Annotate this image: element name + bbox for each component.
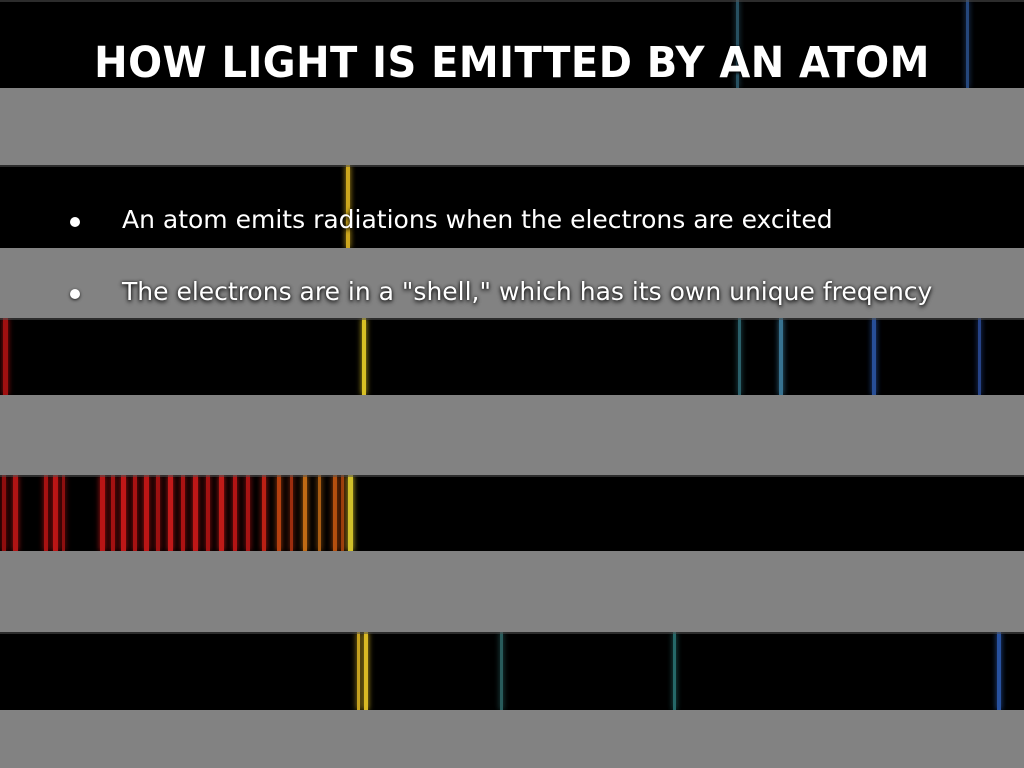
emission-line: [156, 475, 160, 551]
bullet-dot-icon: [70, 289, 80, 299]
bullet-item-1: An atom emits radiations when the electr…: [70, 205, 833, 234]
emission-line: [206, 475, 210, 551]
emission-line: [168, 475, 173, 551]
bullet-dot-icon: [70, 217, 80, 227]
emission-line: [303, 475, 307, 551]
emission-line: [997, 632, 1001, 710]
emission-line: [262, 475, 266, 551]
emission-line: [44, 475, 48, 551]
emission-line: [978, 318, 981, 395]
emission-line: [100, 475, 105, 551]
emission-line: [219, 475, 224, 551]
emission-line: [62, 475, 65, 551]
emission-line: [121, 475, 126, 551]
spectrum-strip-neon: [0, 475, 1024, 551]
emission-line: [318, 475, 321, 551]
emission-line: [779, 318, 783, 395]
spectrum-strip-helium: [0, 318, 1024, 395]
emission-line: [738, 318, 741, 395]
slide-canvas: ercuryeoneliumodiumydrogen HOW LIGHT IS …: [0, 0, 1024, 768]
spectrum-strip-mercury: [0, 632, 1024, 710]
bullet-text-2: The electrons are in a "shell," which ha…: [122, 277, 932, 306]
emission-line: [13, 475, 18, 551]
emission-line: [277, 475, 281, 551]
emission-line: [357, 632, 360, 710]
emission-line: [193, 475, 198, 551]
emission-line: [872, 318, 876, 395]
spectrum-gray-band: [0, 395, 1024, 475]
emission-line: [133, 475, 137, 551]
emission-line: [362, 318, 366, 395]
bullet-item-2: The electrons are in a "shell," which ha…: [70, 277, 932, 306]
emission-line: [348, 475, 353, 551]
emission-line: [341, 475, 344, 551]
emission-line: [233, 475, 237, 551]
emission-line: [3, 318, 8, 395]
spectrum-gray-band: [0, 710, 1024, 768]
emission-line: [111, 475, 115, 551]
emission-line: [144, 475, 149, 551]
emission-line: [333, 475, 337, 551]
emission-line: [246, 475, 250, 551]
spectrum-gray-band: [0, 551, 1024, 632]
emission-line: [53, 475, 58, 551]
emission-line: [500, 632, 503, 710]
emission-line: [181, 475, 185, 551]
spectrum-gray-band: [0, 88, 1024, 165]
bullet-text-1: An atom emits radiations when the electr…: [122, 205, 833, 234]
emission-line: [673, 632, 676, 710]
emission-line: [2, 475, 6, 551]
page-title: HOW LIGHT IS EMITTED BY AN ATOM: [36, 38, 988, 88]
emission-line: [290, 475, 293, 551]
emission-line: [364, 632, 368, 710]
